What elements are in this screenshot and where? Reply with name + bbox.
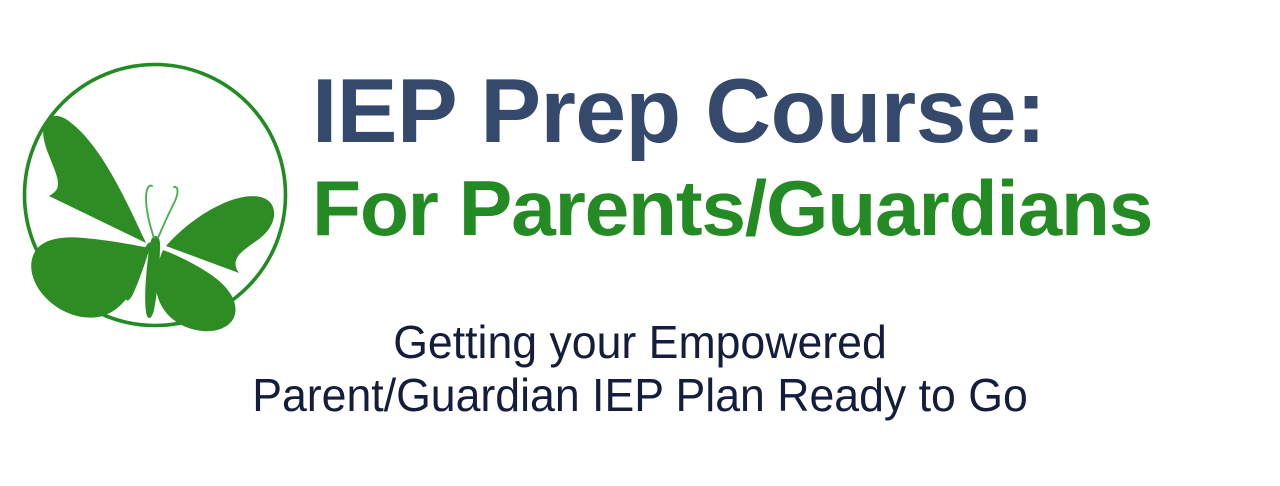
headline-block: IEP Prep Course: For Parents/Guardians bbox=[312, 62, 1212, 254]
butterfly-shape bbox=[31, 116, 274, 331]
headline-secondary: For Parents/Guardians bbox=[312, 162, 1239, 254]
iep-prep-course-banner: IEP Prep Course: For Parents/Guardians G… bbox=[0, 0, 1280, 486]
subtitle-block: Getting your Empowered Parent/Guardian I… bbox=[0, 316, 1280, 422]
subtitle-line-1: Getting your Empowered bbox=[19, 316, 1261, 369]
headline-primary: IEP Prep Course: bbox=[312, 62, 1212, 162]
butterfly-in-circle-logo-icon bbox=[18, 58, 292, 332]
butterfly-logo bbox=[18, 58, 292, 332]
butterfly-antennae bbox=[146, 186, 178, 238]
subtitle-line-2: Parent/Guardian IEP Plan Ready to Go bbox=[19, 369, 1261, 422]
